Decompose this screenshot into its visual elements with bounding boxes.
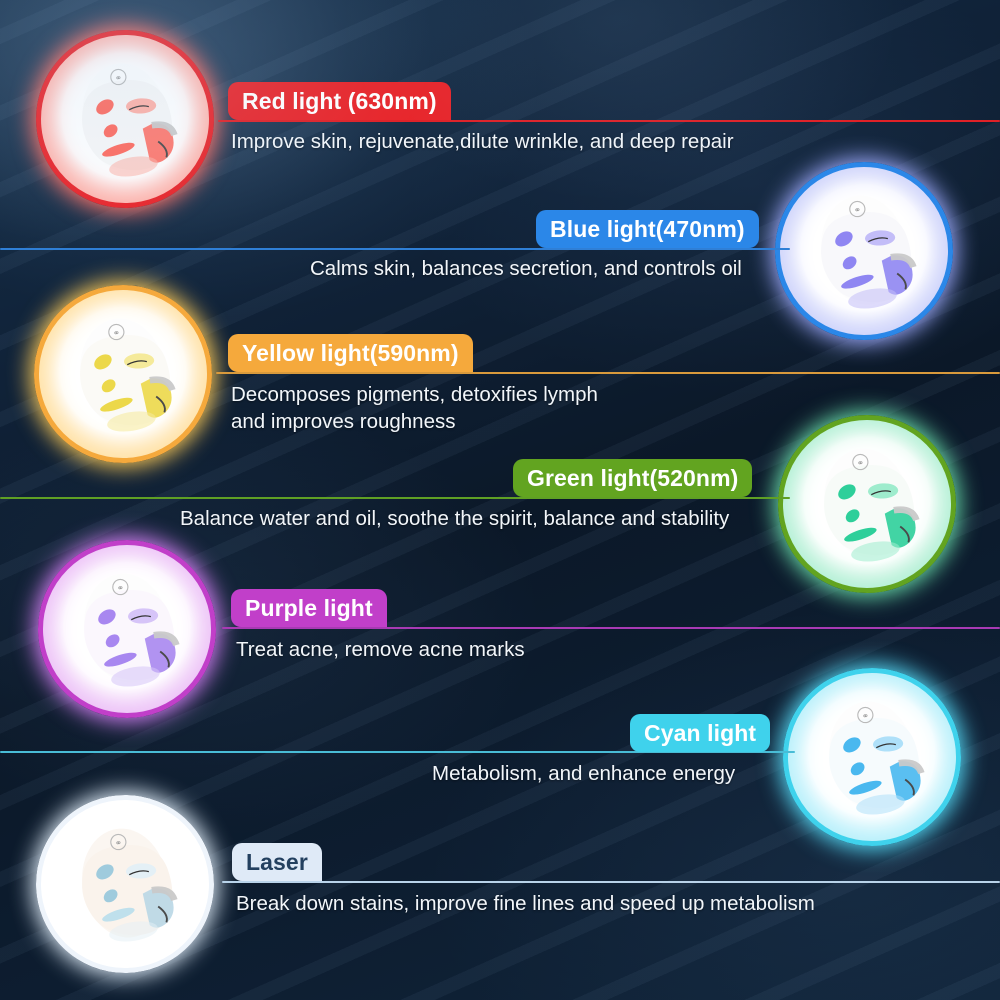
tag-yellow-label: Yellow light(590nm)	[242, 340, 459, 367]
led-mask-green-icon: ⚭	[778, 415, 956, 593]
tag-blue-label: Blue light(470nm)	[550, 216, 745, 243]
divider-purple	[222, 627, 1000, 629]
description-green: Balance water and oil, soothe the spirit…	[180, 505, 729, 532]
divider-red	[218, 120, 1000, 122]
description-cyan: Metabolism, and enhance energy	[432, 760, 735, 787]
divider-yellow	[216, 372, 1000, 374]
led-mask-red-icon: ⚭	[36, 30, 214, 208]
tag-red[interactable]: Red light (630nm)	[228, 82, 451, 120]
led-mask-blue-icon: ⚭	[775, 162, 953, 340]
led-mask-yellow-icon: ⚭	[34, 285, 212, 463]
tag-purple[interactable]: Purple light	[231, 589, 387, 627]
description-red: Improve skin, rejuvenate,dilute wrinkle,…	[231, 128, 734, 155]
tag-yellow[interactable]: Yellow light(590nm)	[228, 334, 473, 372]
infographic-poster: ⚭ Red light (630nm) Improve skin, rejuve…	[0, 0, 1000, 1000]
description-blue: Calms skin, balances secretion, and cont…	[310, 255, 742, 282]
tag-cyan[interactable]: Cyan light	[630, 714, 770, 752]
tag-green[interactable]: Green light(520nm)	[513, 459, 752, 497]
led-mask-laser-icon: ⚭	[36, 795, 214, 973]
tag-green-label: Green light(520nm)	[527, 465, 738, 492]
tag-blue[interactable]: Blue light(470nm)	[536, 210, 759, 248]
divider-blue	[0, 248, 790, 250]
divider-laser	[222, 881, 1000, 883]
description-yellow: Decomposes pigments, detoxifies lymph an…	[231, 381, 598, 435]
led-mask-cyan-icon: ⚭	[783, 668, 961, 846]
led-mask-purple-icon: ⚭	[38, 540, 216, 718]
tag-laser[interactable]: Laser	[232, 843, 322, 881]
tag-cyan-label: Cyan light	[644, 720, 756, 747]
description-purple: Treat acne, remove acne marks	[236, 636, 525, 663]
description-laser: Break down stains, improve fine lines an…	[236, 890, 815, 917]
tag-purple-label: Purple light	[245, 595, 373, 622]
divider-green	[0, 497, 790, 499]
tag-red-label: Red light (630nm)	[242, 88, 437, 115]
tag-laser-label: Laser	[246, 849, 308, 876]
